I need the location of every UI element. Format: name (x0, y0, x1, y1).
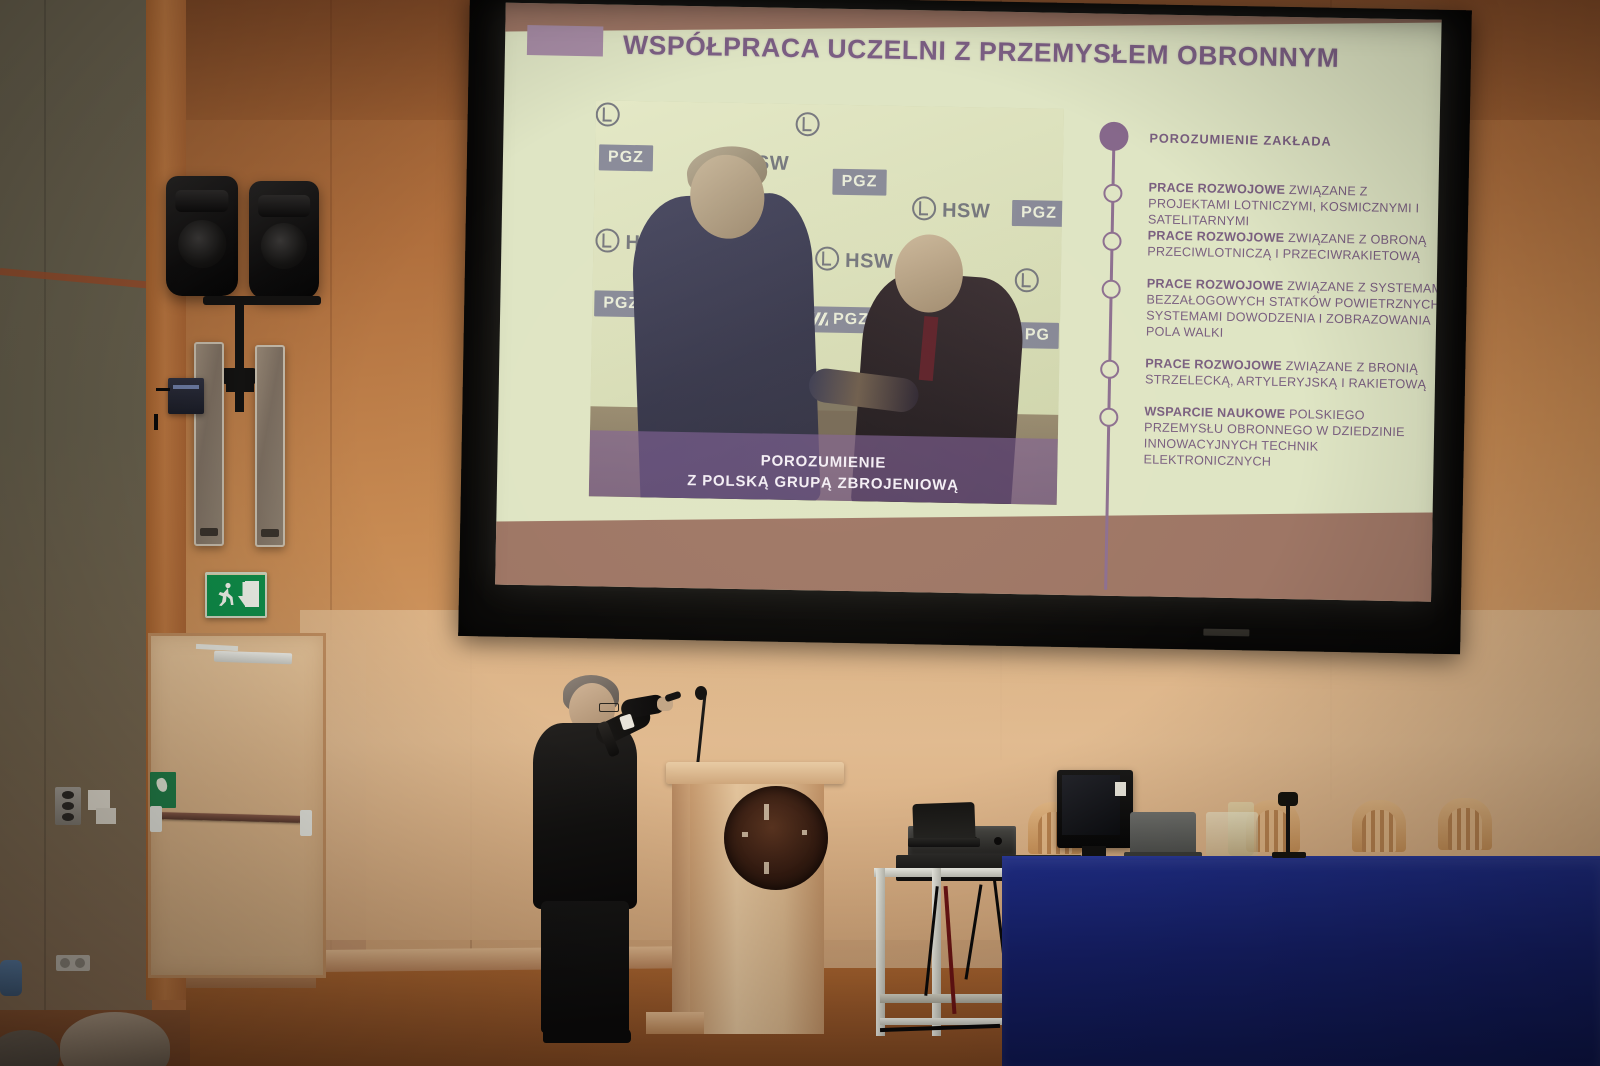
lectern-emblem (724, 786, 828, 890)
av-laptop-base (908, 838, 980, 847)
rack-knob[interactable] (994, 837, 1002, 845)
cable (154, 414, 158, 430)
emblem-highlight (802, 830, 807, 835)
drinking-glasses (1206, 812, 1258, 856)
cart-leg (876, 868, 885, 1036)
emblem-highlight (764, 804, 769, 820)
foreground-object (0, 960, 22, 996)
presenter-glasses (599, 703, 619, 712)
table-laptop-lid (1130, 812, 1196, 856)
stage-baseboard (300, 946, 720, 972)
presenter (525, 675, 653, 1045)
push-bar-bracket-right (300, 810, 312, 836)
screen-inner-shadow (458, 0, 1472, 654)
column-speaker-right (255, 345, 285, 547)
switch-button[interactable] (62, 802, 74, 810)
power-socket (56, 955, 90, 971)
head-table-skirt (1002, 860, 1600, 1066)
socket-hole (60, 958, 70, 968)
projection-screen: WSPÓŁPRACA UCZELNI Z PRZEMYSŁEM OBRONNYM… (458, 0, 1472, 654)
conference-hall-photo: WSPÓŁPRACA UCZELNI Z PRZEMYSŁEM OBRONNYM… (0, 0, 1600, 1066)
switch-button[interactable] (62, 813, 74, 821)
emergency-exit-sign (205, 572, 267, 618)
pa-speaker-right (249, 181, 319, 299)
cart-shelf (880, 994, 1010, 1003)
speaker-stand-base (226, 380, 254, 392)
wall-note (96, 808, 116, 824)
chair-slats (1256, 810, 1290, 852)
exit-sign-mount (207, 572, 265, 575)
stage-step (646, 1012, 704, 1034)
socket-hole (75, 958, 85, 968)
monitor-screen (1062, 775, 1120, 835)
av-monitor (1057, 770, 1133, 848)
column-speaker-left (194, 342, 224, 546)
lectern-top (666, 762, 844, 784)
wireless-receiver-box (168, 378, 204, 414)
left-wall-panel (0, 0, 152, 1066)
switch-button[interactable] (62, 791, 74, 799)
chair (1434, 798, 1496, 862)
monitor-label-sticker (1115, 782, 1126, 796)
emblem-highlight (742, 832, 748, 837)
running-man-icon (215, 582, 235, 606)
push-bar-bracket-left (150, 806, 162, 832)
pa-speaker-left (166, 176, 238, 296)
emblem-highlight (764, 862, 769, 874)
presenter-torso (533, 723, 637, 909)
speaker-horn (258, 195, 310, 217)
cart-top-rail (874, 868, 1020, 877)
cable (156, 388, 170, 391)
exit-door-icon (245, 581, 259, 607)
wall-note (88, 790, 110, 810)
speaker-woofer (261, 223, 307, 269)
table-microphone-base (1272, 852, 1306, 858)
av-laptop-lid (912, 802, 975, 842)
chair-slats (1448, 808, 1482, 850)
chair-slats (1362, 810, 1396, 852)
presenter-legs (541, 901, 629, 1033)
speaker-stand-bar (203, 296, 321, 305)
receiver-led-strip (173, 385, 199, 389)
presenter-shoe-front (579, 1027, 631, 1043)
exit-sign-small (150, 772, 176, 808)
chair (1348, 800, 1410, 864)
light-switch-plate[interactable] (55, 787, 81, 825)
wall-seam (44, 0, 46, 1066)
lectern-mic-head (695, 686, 707, 700)
speaker-horn (175, 190, 228, 212)
table-microphone-stand (1286, 800, 1290, 856)
speaker-stand-pole (235, 300, 244, 412)
speaker-woofer (178, 220, 226, 268)
